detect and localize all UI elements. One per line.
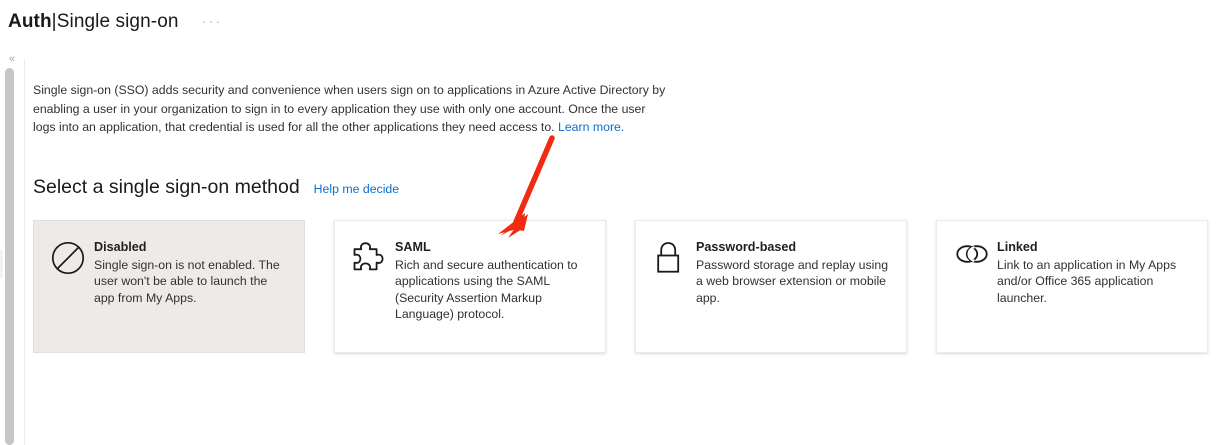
card-description: Link to an application in My Apps and/or… [997, 257, 1193, 307]
card-title: SAML [395, 239, 591, 256]
card-body: SAML Rich and secure authentication to a… [395, 238, 591, 352]
section-header: Select a single sign-on method Help me d… [33, 175, 1220, 199]
padlock-icon [652, 238, 690, 352]
intro-paragraph: Single sign-on (SSO) adds security and c… [33, 81, 669, 137]
puzzle-piece-icon [351, 238, 389, 352]
vertical-scrollbar[interactable] [5, 68, 14, 445]
card-title: Password-based [696, 239, 892, 256]
help-me-decide-link[interactable]: Help me decide [314, 182, 399, 196]
more-horizontal-icon[interactable]: ··· [197, 13, 228, 31]
card-description: Single sign-on is not enabled. The user … [94, 257, 290, 307]
sso-method-card-password-based[interactable]: Password-based Password storage and repl… [635, 220, 907, 353]
sso-method-card-disabled[interactable]: Disabled Single sign-on is not enabled. … [33, 220, 305, 353]
chain-link-icon [953, 238, 991, 352]
page-title-resource: Auth [8, 11, 52, 32]
no-entry-icon [50, 238, 88, 352]
page-header: Auth|Single sign-on ··· [0, 0, 1220, 44]
card-title: Disabled [94, 239, 290, 256]
sso-method-card-linked[interactable]: Linked Link to an application in My Apps… [936, 220, 1208, 353]
card-title: Linked [997, 239, 1193, 256]
card-body: Linked Link to an application in My Apps… [997, 238, 1193, 352]
page-title: Auth|Single sign-on [8, 10, 179, 34]
scrollbar-thumb[interactable] [5, 68, 14, 445]
main-content: Single sign-on (SSO) adds security and c… [33, 60, 1220, 353]
card-body: Password-based Password storage and repl… [696, 238, 892, 352]
page-title-blade: Single sign-on [57, 11, 179, 32]
learn-more-link[interactable]: Learn more. [558, 120, 624, 134]
card-description: Password storage and replay using a web … [696, 257, 892, 307]
card-body: Disabled Single sign-on is not enabled. … [94, 238, 290, 352]
chevron-double-left-icon[interactable]: « [5, 52, 19, 66]
section-title: Select a single sign-on method [33, 175, 300, 199]
pane-divider [24, 60, 25, 445]
sso-method-card-saml[interactable]: SAML Rich and secure authentication to a… [334, 220, 606, 353]
sso-method-card-list: Disabled Single sign-on is not enabled. … [33, 220, 1220, 353]
card-description: Rich and secure authentication to applic… [395, 257, 591, 323]
pane-edge-marker [0, 250, 3, 278]
